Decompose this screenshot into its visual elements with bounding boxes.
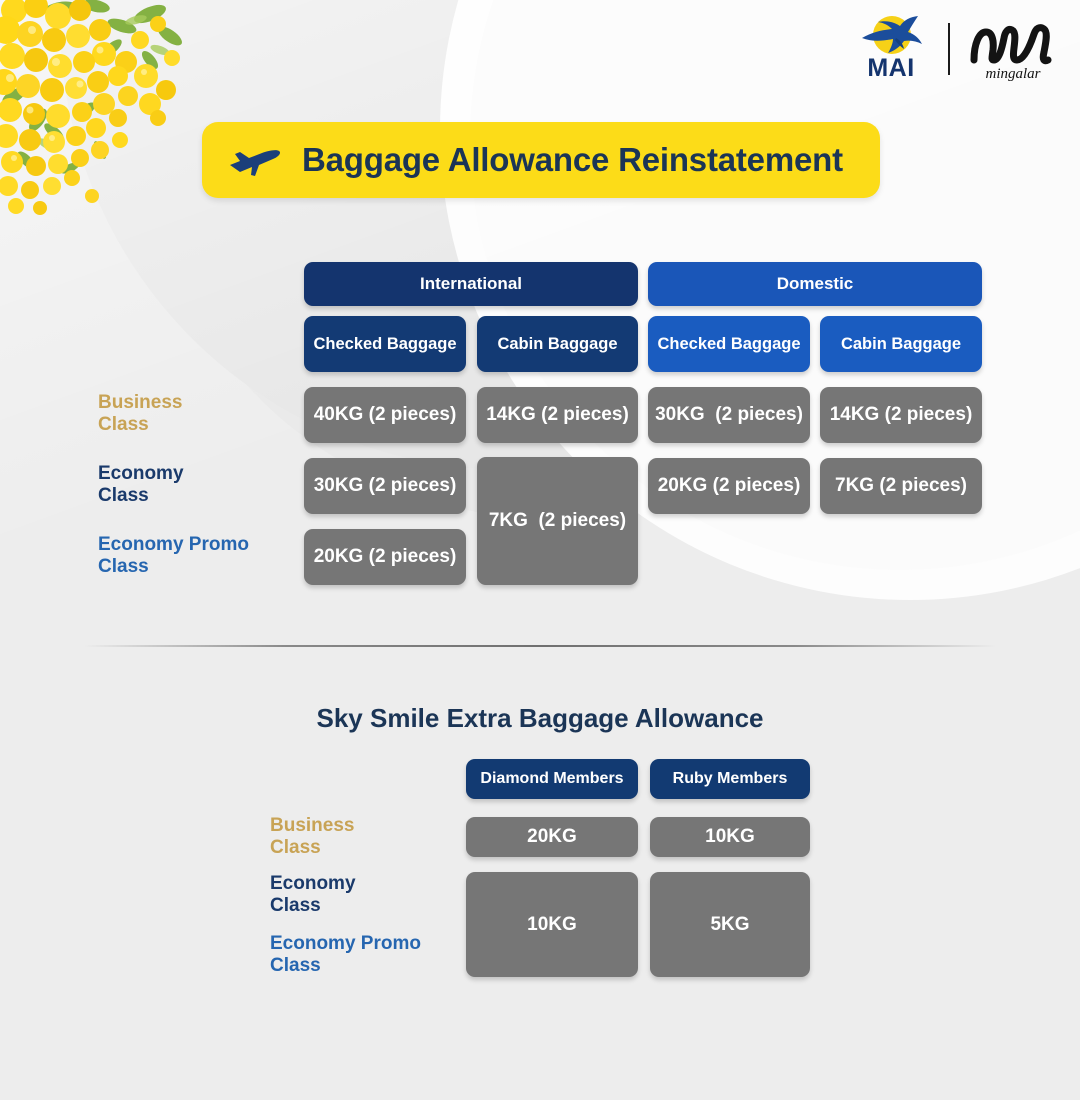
mingalar-logo: mingalar	[964, 16, 1062, 82]
cell-value: 14KG (2 pieces)	[830, 404, 973, 426]
column-header-intl-cabin: Cabin Baggage	[477, 316, 638, 372]
row-label-business-class: Business Class	[98, 392, 182, 437]
row-label-economy-class: Economy Class	[98, 463, 184, 508]
cell-value: 20KG (2 pieces)	[658, 475, 801, 497]
page-title: Baggage Allowance Reinstatement	[302, 141, 843, 179]
column-header-label: Cabin Baggage	[497, 335, 617, 354]
mai-wordmark: MAI	[867, 54, 914, 82]
airplane-icon	[228, 143, 284, 177]
cell-value: 20KG (2 pieces)	[314, 546, 457, 568]
cell-ruby-business: 10KG	[650, 817, 810, 857]
column-header-diamond-members: Diamond Members	[466, 759, 638, 799]
cell-value: 10KG	[705, 826, 755, 848]
cell-intl-checked-promo: 20KG (2 pieces)	[304, 529, 466, 585]
cell-dom-checked-business: 30KG (2 pieces)	[648, 387, 810, 443]
mingalar-wordmark: mingalar	[985, 66, 1040, 82]
group-header-international: International	[304, 262, 638, 306]
cell-value: 5KG	[710, 914, 749, 936]
cell-dom-cabin-economy: 7KG (2 pieces)	[820, 458, 982, 514]
row-label-economy-promo-class: Economy Promo Class	[98, 534, 249, 579]
column-header-ruby-members: Ruby Members	[650, 759, 810, 799]
cell-ruby-economy-merged: 5KG	[650, 872, 810, 977]
column-header-label: Ruby Members	[673, 770, 788, 788]
column-header-label: Cabin Baggage	[841, 335, 961, 354]
cell-intl-checked-business: 40KG (2 pieces)	[304, 387, 466, 443]
column-header-label: Checked Baggage	[313, 335, 456, 354]
group-header-international-label: International	[420, 274, 522, 294]
group-header-domestic-label: Domestic	[777, 274, 854, 294]
mai-airline-logo: MAI	[848, 14, 934, 84]
column-header-dom-cabin: Cabin Baggage	[820, 316, 982, 372]
cell-value: 30KG (2 pieces)	[314, 475, 457, 497]
padauk-flower-decoration	[0, 0, 200, 215]
cell-value: 40KG (2 pieces)	[314, 404, 457, 426]
cell-diamond-business: 20KG	[466, 817, 638, 857]
cell-value: 7KG (2 pieces)	[489, 510, 626, 532]
cell-intl-checked-economy: 30KG (2 pieces)	[304, 458, 466, 514]
column-header-label: Diamond Members	[480, 770, 623, 788]
sky-smile-section-title: Sky Smile Extra Baggage Allowance	[0, 703, 1080, 734]
cell-value: 7KG (2 pieces)	[835, 475, 967, 497]
column-header-label: Checked Baggage	[657, 335, 800, 354]
cell-dom-checked-economy: 20KG (2 pieces)	[648, 458, 810, 514]
cell-value: 14KG (2 pieces)	[486, 404, 629, 426]
cell-value: 30KG (2 pieces)	[655, 404, 803, 426]
title-banner: Baggage Allowance Reinstatement	[202, 122, 880, 198]
brand-logo-bar: MAI mingalar	[848, 14, 1062, 84]
sky-row-label-business-class: Business Class	[270, 815, 354, 860]
section-divider	[84, 645, 996, 647]
cell-intl-cabin-business: 14KG (2 pieces)	[477, 387, 638, 443]
cell-diamond-economy-merged: 10KG	[466, 872, 638, 977]
cell-value: 10KG	[527, 914, 577, 936]
sky-row-label-economy-class: Economy Class	[270, 873, 356, 918]
cell-intl-cabin-merged: 7KG (2 pieces)	[477, 457, 638, 585]
column-header-dom-checked: Checked Baggage	[648, 316, 810, 372]
cell-dom-cabin-business: 14KG (2 pieces)	[820, 387, 982, 443]
column-header-intl-checked: Checked Baggage	[304, 316, 466, 372]
group-header-domestic: Domestic	[648, 262, 982, 306]
sky-row-label-economy-promo-class: Economy Promo Class	[270, 933, 421, 978]
logo-separator	[948, 23, 950, 75]
cell-value: 20KG	[527, 826, 577, 848]
